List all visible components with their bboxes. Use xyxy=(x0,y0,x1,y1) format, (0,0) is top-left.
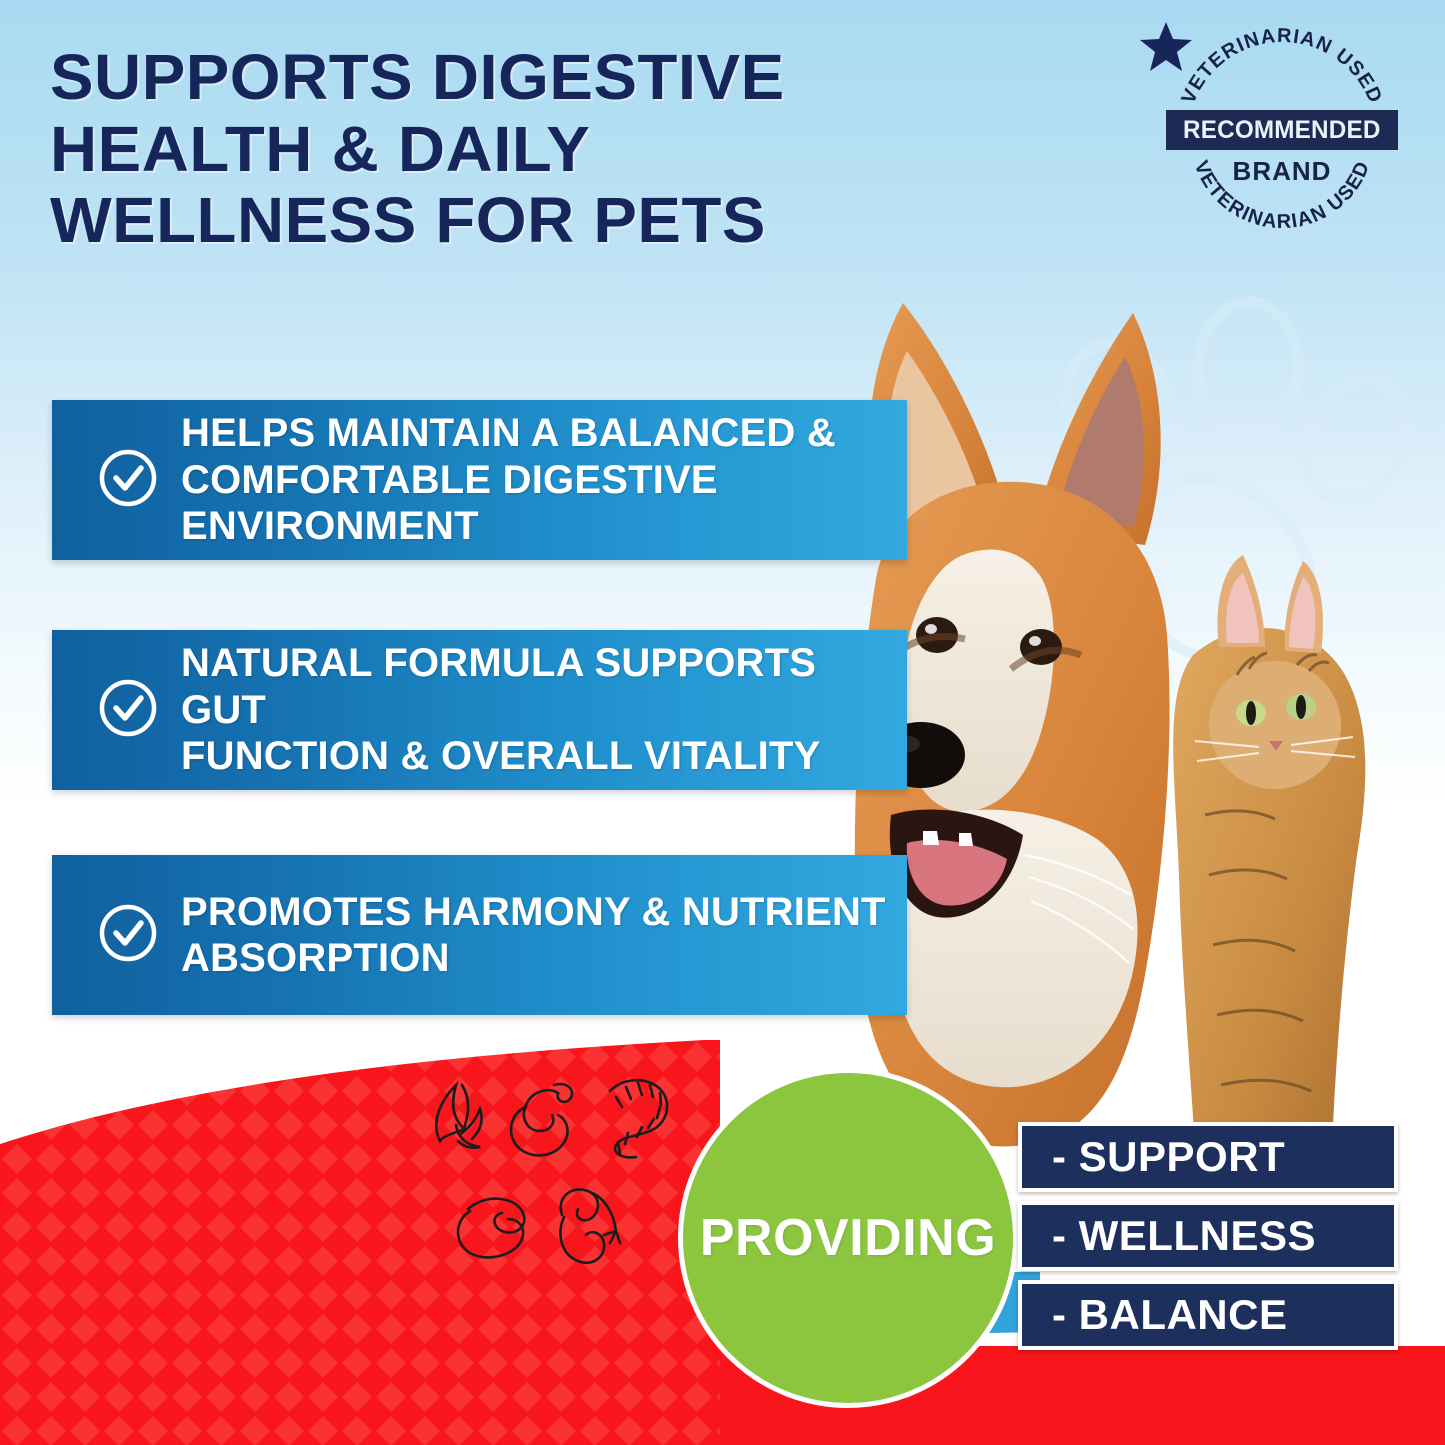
headline-line-2: HEALTH & DAILY xyxy=(50,114,897,186)
infographic-canvas: SUPPORTS DIGESTIVE HEALTH & DAILY WELLNE… xyxy=(0,0,1445,1445)
providing-label: PROVIDING xyxy=(700,1208,996,1268)
badge-recommended-label: RECOMMENDED xyxy=(1183,116,1380,145)
benefit-bar-wellness: - WELLNESS xyxy=(1018,1201,1398,1271)
headline-line-1: SUPPORTS DIGESTIVE xyxy=(50,42,897,114)
parasite-worm-illustration xyxy=(610,1080,667,1157)
feature-text-3: PROMOTES HARMONY & NUTRIENT ABSORPTION xyxy=(181,889,886,982)
benefit-bar-support: - SUPPORT xyxy=(1018,1122,1398,1192)
page-headline: SUPPORTS DIGESTIVE HEALTH & DAILY WELLNE… xyxy=(50,42,897,257)
headline-line-3: WELLNESS FOR PETS xyxy=(50,185,897,257)
benefit-label-support: - SUPPORT xyxy=(1052,1133,1285,1181)
check-circle-icon xyxy=(97,902,159,969)
veterinarian-recommended-badge: VETERINARIAN USED VETERINARIAN USED RECO… xyxy=(1166,20,1398,252)
svg-text:VETERINARIAN USED: VETERINARIAN USED xyxy=(1177,25,1386,107)
feature-bar-2: NATURAL FORMULA SUPPORTS GUT FUNCTION & … xyxy=(52,630,907,790)
feature-bar-3: PROMOTES HARMONY & NUTRIENT ABSORPTION xyxy=(52,855,907,1015)
badge-recommended-bar: RECOMMENDED xyxy=(1166,110,1398,150)
parasite-worm-illustrations xyxy=(410,1063,710,1278)
benefit-bar-balance: - BALANCE xyxy=(1018,1280,1398,1350)
check-circle-icon xyxy=(97,677,159,744)
check-circle-icon xyxy=(97,447,159,514)
parasite-worm-illustration xyxy=(511,1084,572,1155)
feature-bar-1: HELPS MAINTAIN A BALANCED & COMFORTABLE … xyxy=(52,400,907,560)
star-icon xyxy=(1138,20,1194,74)
parasite-worm-illustration xyxy=(458,1199,524,1258)
providing-circle-badge: PROVIDING xyxy=(678,1068,1018,1408)
benefit-label-balance: - BALANCE xyxy=(1052,1291,1287,1339)
parasite-worm-illustration xyxy=(436,1085,481,1148)
badge-brand-label: BRAND xyxy=(1166,156,1398,187)
benefit-label-wellness: - WELLNESS xyxy=(1052,1212,1316,1260)
parasite-worm-illustration xyxy=(560,1189,620,1262)
pets-photo xyxy=(845,255,1445,1175)
feature-text-2: NATURAL FORMULA SUPPORTS GUT FUNCTION & … xyxy=(181,640,907,779)
feature-text-1: HELPS MAINTAIN A BALANCED & COMFORTABLE … xyxy=(181,410,907,549)
benefit-list: - SUPPORT - WELLNESS - BALANCE xyxy=(1018,1122,1398,1359)
